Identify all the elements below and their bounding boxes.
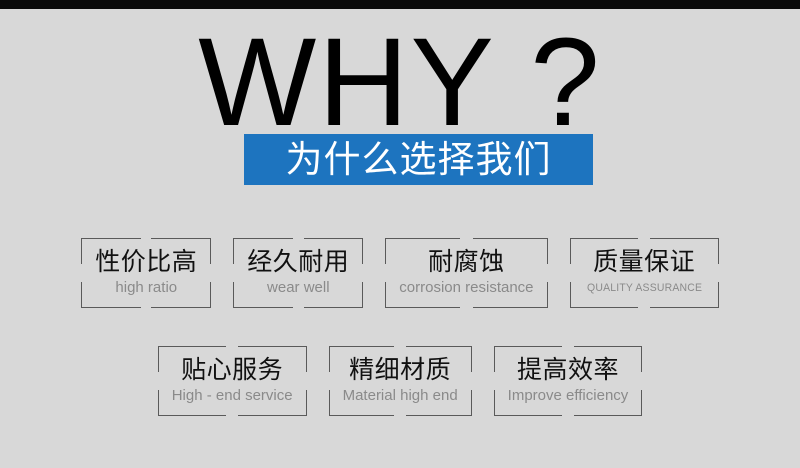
- promo-banner-stage: WHY ? 为什么选择我们 性价比高 high ratio 经久耐用 wear …: [0, 0, 800, 468]
- feature-title-cn: 贴心服务: [181, 355, 283, 385]
- feature-title-cn: 耐腐蚀: [428, 247, 505, 277]
- feature-corrosion-resistance[interactable]: 耐腐蚀 corrosion resistance: [385, 238, 547, 308]
- feature-title-cn: 精细材质: [349, 355, 451, 385]
- feature-row-2: 贴心服务 High - end service 精细材质 Material hi…: [0, 346, 800, 416]
- feature-title-en: Improve efficiency: [508, 386, 629, 406]
- feature-grid: 性价比高 high ratio 经久耐用 wear well 耐腐蚀 corro…: [0, 238, 800, 416]
- feature-row-1: 性价比高 high ratio 经久耐用 wear well 耐腐蚀 corro…: [0, 238, 800, 308]
- feature-title-cn: 提高效率: [517, 355, 619, 385]
- top-black-strip: [0, 0, 800, 9]
- feature-title-cn: 质量保证: [593, 247, 695, 277]
- page-title: WHY ?: [0, 20, 800, 145]
- feature-title-en: high ratio: [115, 278, 177, 298]
- feature-title-cn: 经久耐用: [247, 247, 349, 277]
- feature-title-en: corrosion resistance: [399, 278, 533, 298]
- feature-title-en: Material high end: [343, 386, 458, 406]
- feature-high-end-service[interactable]: 贴心服务 High - end service: [158, 346, 307, 416]
- feature-high-ratio[interactable]: 性价比高 high ratio: [81, 238, 211, 308]
- feature-improve-efficiency[interactable]: 提高效率 Improve efficiency: [494, 346, 643, 416]
- feature-title-cn: 性价比高: [95, 247, 197, 277]
- feature-wear-well[interactable]: 经久耐用 wear well: [233, 238, 363, 308]
- feature-title-en: QUALITY ASSURANCE: [587, 278, 702, 298]
- subtitle-banner: 为什么选择我们: [244, 134, 593, 185]
- feature-quality-assurance[interactable]: 质量保证 QUALITY ASSURANCE: [570, 238, 719, 308]
- feature-material-high-end[interactable]: 精细材质 Material high end: [329, 346, 472, 416]
- feature-title-en: wear well: [267, 278, 330, 298]
- feature-title-en: High - end service: [172, 386, 293, 406]
- subtitle-text: 为什么选择我们: [286, 141, 552, 178]
